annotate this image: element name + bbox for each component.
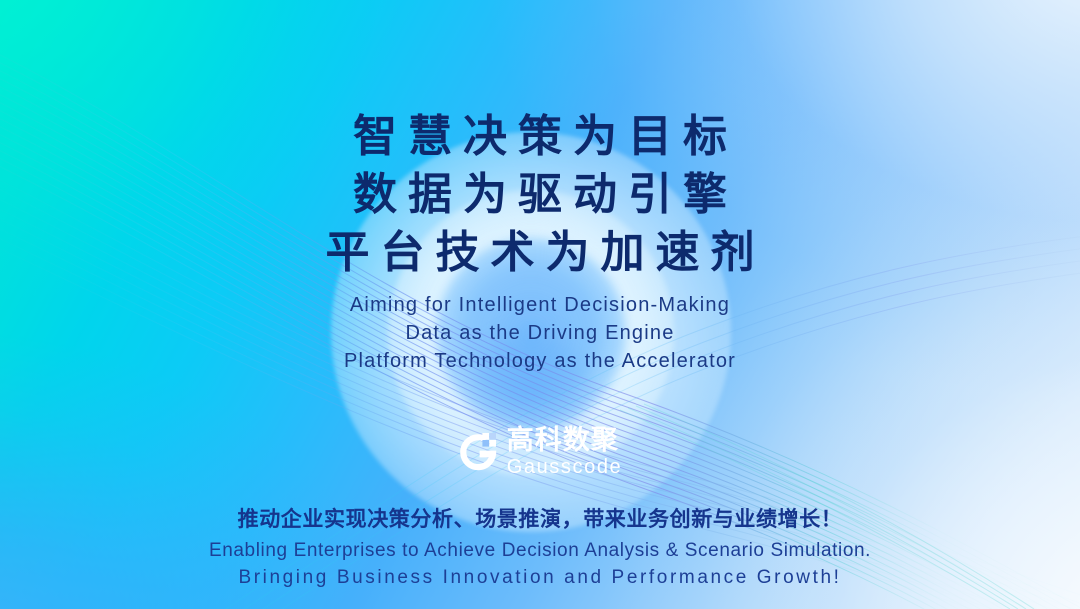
subtitle-line-3: Platform Technology as the Accelerator [344,347,736,375]
subtitle-line-1: Aiming for Intelligent Decision-Making [344,291,736,319]
headline-line-2: 数据为驱动引擎 [315,166,766,224]
brand-logo-text: 高科数聚 Gausscode [507,427,623,477]
poster-content: 智慧决策为目标 数据为驱动引擎 平台技术为加速剂 Aiming for Inte… [0,0,1080,609]
subtitle-line-2: Data as the Driving Engine [344,319,736,347]
subtitle-block: Aiming for Intelligent Decision-Making D… [344,291,736,375]
brand-logo: 高科数聚 Gausscode [458,427,623,477]
footer-tagline-cn: 推动企业实现决策分析、场景推演，带来业务创新与业绩增长！ [209,504,871,534]
headline-line-3: 平台技术为加速剂 [315,224,766,282]
footer-block: 推动企业实现决策分析、场景推演，带来业务创新与业绩增长！ Enabling En… [209,504,871,591]
brand-name-en: Gausscode [507,457,623,477]
footer-tagline-en-line2: Bringing Business Innovation and Perform… [209,564,871,591]
brand-name-cn: 高科数聚 [507,427,623,454]
headline-block: 智慧决策为目标 数据为驱动引擎 平台技术为加速剂 [315,108,766,282]
poster-canvas: 智慧决策为目标 数据为驱动引擎 平台技术为加速剂 Aiming for Inte… [0,0,1080,609]
headline-line-1: 智慧决策为目标 [315,108,766,166]
gausscode-g-mark-icon [458,432,498,472]
footer-tagline-en-line1: Enabling Enterprises to Achieve Decision… [209,537,871,564]
